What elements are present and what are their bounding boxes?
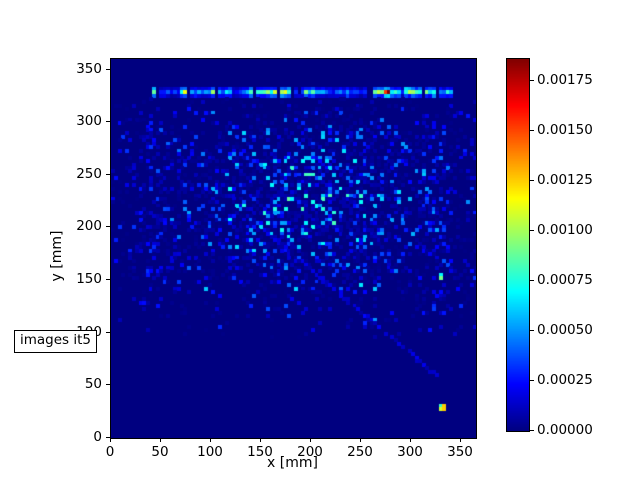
y-tick-label: 350 [48,61,102,77]
y-tick-mark [106,437,110,438]
colorbar-tick-mark [530,280,534,281]
y-tick-label: 50 [48,376,102,392]
colorbar-tick-mark [530,330,534,331]
y-tick-mark [106,226,110,227]
x-tick-mark [160,438,161,442]
y-tick-mark [106,384,110,385]
colorbar-tick-mark [530,230,534,231]
y-tick-label: 0 [48,429,102,445]
y-axis-label: y [mm] [49,196,65,316]
colorbar-tick-mark [530,180,534,181]
x-tick-mark [360,438,361,442]
x-axis-label: x [mm] [110,455,475,471]
heatmap-axes [110,58,477,439]
colorbar-tick-label: 0.00150 [537,122,593,138]
x-tick-mark [460,438,461,442]
colorbar-tick-mark [530,430,534,431]
colorbar-tick-label: 0.00050 [537,322,593,338]
colorbar-tick-mark [530,80,534,81]
x-tick-mark [110,438,111,442]
y-tick-label: 250 [48,166,102,182]
colorbar-tick-label: 0.00025 [537,372,593,388]
y-tick-mark [106,279,110,280]
colorbar-tick-label: 0.00100 [537,222,593,238]
heatmap-image [111,59,476,438]
x-tick-mark [310,438,311,442]
colorbar-tick-label: 0.00075 [537,272,593,288]
figure-canvas: 0501001502002503003500501001502002503003… [0,0,640,480]
colorbar-tick-label: 0.00125 [537,172,593,188]
y-tick-label: 300 [48,113,102,129]
y-tick-mark [106,332,110,333]
x-tick-mark [410,438,411,442]
x-tick-mark [210,438,211,442]
annotation-textbox: images it5 [14,330,97,353]
y-tick-mark [106,69,110,70]
colorbar-gradient [507,59,529,431]
x-tick-mark [260,438,261,442]
colorbar [506,58,530,432]
colorbar-tick-mark [530,130,534,131]
y-tick-mark [106,121,110,122]
colorbar-tick-mark [530,380,534,381]
y-tick-mark [106,174,110,175]
colorbar-tick-label: 0.00175 [537,72,593,88]
colorbar-tick-label: 0.00000 [537,422,593,438]
